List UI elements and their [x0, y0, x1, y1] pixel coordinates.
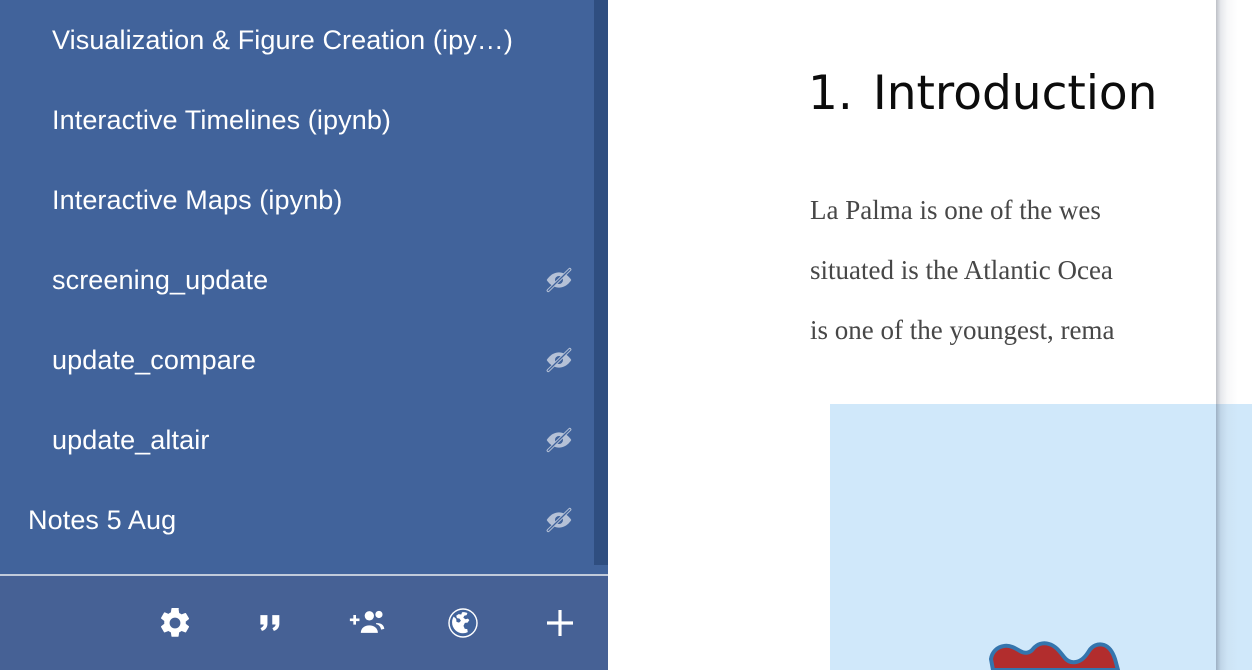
- intro-paragraph: La Palma is one of the wes situated is t…: [810, 180, 1252, 360]
- map-ocean-background: [830, 404, 1252, 670]
- add-new-button[interactable]: [532, 595, 588, 651]
- sidebar-item-update-altair[interactable]: update_altair: [0, 400, 608, 480]
- app-root: Visualization & Figure Creation (ipy…) I…: [0, 0, 1252, 670]
- plus-icon: [540, 603, 580, 643]
- sidebar-item-label: Notes 5 Aug: [28, 505, 532, 536]
- sidebar-item-label: screening_update: [52, 265, 532, 296]
- sidebar-item-interactive-timelines[interactable]: Interactive Timelines (ipynb): [0, 80, 608, 160]
- paragraph-line: is one of the youngest, rema: [810, 300, 1252, 360]
- sidebar-scrollbar-thumb[interactable]: [594, 0, 608, 565]
- sidebar-scrollbar[interactable]: [594, 0, 608, 575]
- document-pane: 1.Introduction La Palma is one of the we…: [608, 0, 1252, 670]
- quote-button[interactable]: [242, 595, 298, 651]
- sidebar-item-label: update_altair: [52, 425, 532, 456]
- add-collaborator-button[interactable]: [340, 595, 396, 651]
- sidebar-item-label: update_compare: [52, 345, 532, 376]
- sidebar-item-screening-update[interactable]: screening_update: [0, 240, 608, 320]
- quote-icon: [253, 606, 287, 640]
- la-palma-island-shape: [991, 643, 1118, 670]
- sidebar-item-interactive-maps[interactable]: Interactive Maps (ipynb): [0, 160, 608, 240]
- gear-icon: [157, 605, 193, 641]
- map-svg: [830, 404, 1252, 670]
- section-heading-text: Introduction: [873, 66, 1158, 121]
- paragraph-line: La Palma is one of the wes: [810, 180, 1252, 240]
- eye-slash-icon[interactable]: [544, 425, 574, 455]
- sidebar-item-update-compare[interactable]: update_compare: [0, 320, 608, 400]
- la-palma-map-figure: [830, 404, 1252, 670]
- sidebar-nav-list[interactable]: Visualization & Figure Creation (ipy…) I…: [0, 0, 608, 575]
- sidebar-item-visualization-figure-creation[interactable]: Visualization & Figure Creation (ipy…): [0, 0, 608, 80]
- page-title: 1.Introduction: [808, 66, 1157, 121]
- eye-slash-icon[interactable]: [544, 265, 574, 295]
- sidebar-item-label: Interactive Timelines (ipynb): [52, 105, 574, 136]
- globe-icon: [444, 604, 482, 642]
- sidebar-toolbar: [0, 576, 608, 670]
- eye-slash-icon[interactable]: [544, 505, 574, 535]
- publish-globe-button[interactable]: [435, 595, 491, 651]
- document-body: 1.Introduction La Palma is one of the we…: [808, 0, 1252, 670]
- sidebar-item-label: Visualization & Figure Creation (ipy…): [52, 25, 574, 56]
- sidebar: Visualization & Figure Creation (ipy…) I…: [0, 0, 608, 670]
- sidebar-item-label: Interactive Maps (ipynb): [52, 185, 574, 216]
- paragraph-line: situated is the Atlantic Ocea: [810, 240, 1252, 300]
- eye-slash-icon[interactable]: [544, 345, 574, 375]
- settings-button[interactable]: [147, 595, 203, 651]
- section-number: 1.: [808, 66, 853, 121]
- sidebar-item-notes-5-aug[interactable]: Notes 5 Aug: [0, 480, 608, 560]
- person-add-icon: [348, 605, 388, 641]
